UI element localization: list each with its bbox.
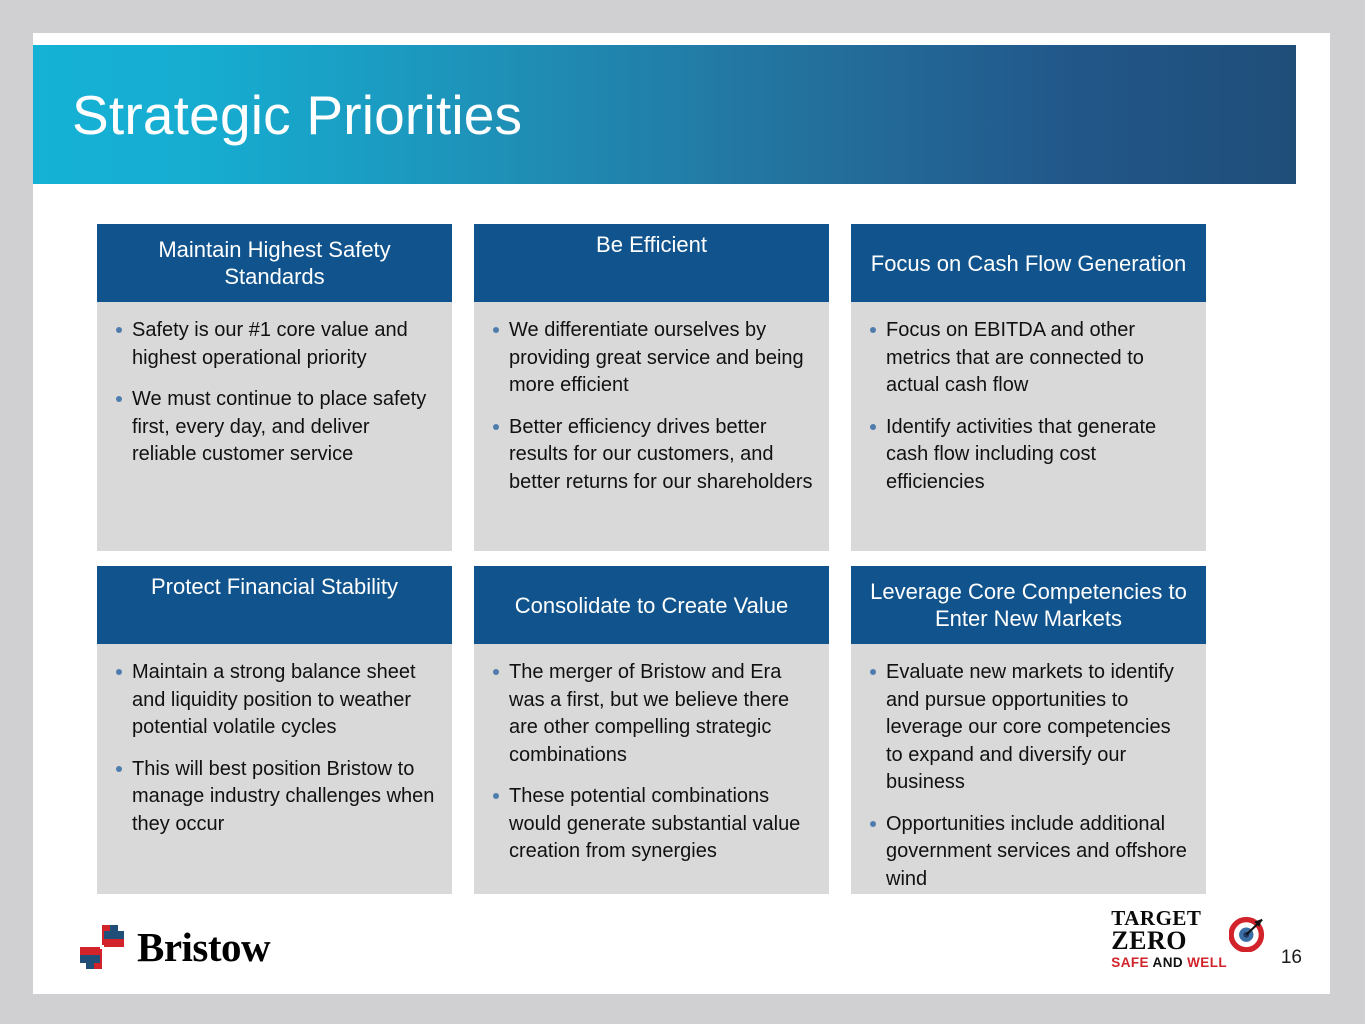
list-item: Safety is our #1 core value and highest … <box>107 317 438 372</box>
bullet-text: We differentiate ourselves by providing … <box>509 319 804 396</box>
page-title: Strategic Priorities <box>72 83 522 147</box>
bullet-dot-icon <box>493 793 499 799</box>
bullet-list: Safety is our #1 core value and highest … <box>107 317 438 469</box>
title-banner: Strategic Priorities <box>33 45 1296 184</box>
priority-card-consolidate-to-create-value[interactable]: Consolidate to Create Value The merger o… <box>474 566 829 894</box>
bullet-text: Focus on EBITDA and other metrics that a… <box>886 319 1144 396</box>
target-zero-wordmark: TARGET ZERO SAFE AND WELL <box>1111 908 1227 970</box>
priority-card-protect-financial-stability[interactable]: Protect Financial Stability Maintain a s… <box>97 566 452 894</box>
tagline-safe: SAFE <box>1111 955 1149 970</box>
bullet-text: The merger of Bristow and Era was a firs… <box>509 661 789 766</box>
card-body: Focus on EBITDA and other metrics that a… <box>851 302 1206 551</box>
card-body: Safety is our #1 core value and highest … <box>97 302 452 551</box>
bullet-dot-icon <box>116 669 122 675</box>
list-item: Focus on EBITDA and other metrics that a… <box>861 317 1192 400</box>
target-zero-logo: TARGET ZERO SAFE AND WELL <box>1111 908 1265 970</box>
bullet-dot-icon <box>493 669 499 675</box>
bullet-list: Focus on EBITDA and other metrics that a… <box>861 317 1192 496</box>
card-header: Be Efficient <box>474 224 829 302</box>
bullet-text: We must continue to place safety first, … <box>132 388 426 465</box>
bristow-pinwheel-icon <box>75 922 129 972</box>
bullet-text: Evaluate new markets to identify and pur… <box>886 661 1174 793</box>
target-zero-line2: ZERO <box>1111 928 1187 954</box>
bullet-text: Opportunities include additional governm… <box>886 813 1187 890</box>
tagline-and: AND <box>1149 955 1187 970</box>
bullet-dot-icon <box>116 766 122 772</box>
card-body: We differentiate ourselves by providing … <box>474 302 829 551</box>
card-body: The merger of Bristow and Era was a firs… <box>474 644 829 894</box>
bullet-list: The merger of Bristow and Era was a firs… <box>484 659 815 866</box>
card-row-bottom: Protect Financial Stability Maintain a s… <box>97 566 1267 894</box>
card-title: Protect Financial Stability <box>151 573 398 600</box>
list-item: These potential combinations would gener… <box>484 783 815 866</box>
card-body: Evaluate new markets to identify and pur… <box>851 644 1206 903</box>
priority-card-focus-on-cash-flow-generation[interactable]: Focus on Cash Flow Generation Focus on E… <box>851 224 1206 551</box>
list-item: Maintain a strong balance sheet and liqu… <box>107 659 438 742</box>
card-title: Maintain Highest Safety Standards <box>107 236 442 290</box>
card-row-top: Maintain Highest Safety Standards Safety… <box>97 224 1267 551</box>
bullet-list: Evaluate new markets to identify and pur… <box>861 659 1192 893</box>
slide-footer: Bristow TARGET ZERO SAFE AND WELL 16 <box>33 904 1330 994</box>
card-title: Be Efficient <box>596 231 707 258</box>
priority-card-leverage-core-competencies[interactable]: Leverage Core Competencies to Enter New … <box>851 566 1206 894</box>
card-header: Consolidate to Create Value <box>474 566 829 644</box>
bullet-text: This will best position Bristow to manag… <box>132 758 434 835</box>
bullet-dot-icon <box>870 424 876 430</box>
bullet-text: Maintain a strong balance sheet and liqu… <box>132 661 416 738</box>
bullet-text: Identify activities that generate cash f… <box>886 416 1156 493</box>
bullet-list: We differentiate ourselves by providing … <box>484 317 815 496</box>
bullet-dot-icon <box>870 669 876 675</box>
page-number: 16 <box>1281 947 1302 969</box>
list-item: We differentiate ourselves by providing … <box>484 317 815 400</box>
bullet-dot-icon <box>116 396 122 402</box>
list-item: The merger of Bristow and Era was a firs… <box>484 659 815 769</box>
bullet-text: These potential combinations would gener… <box>509 785 800 862</box>
list-item: We must continue to place safety first, … <box>107 386 438 469</box>
bristow-logo: Bristow <box>75 922 270 972</box>
bullet-list: Maintain a strong balance sheet and liqu… <box>107 659 438 838</box>
card-header: Maintain Highest Safety Standards <box>97 224 452 302</box>
card-header: Leverage Core Competencies to Enter New … <box>851 566 1206 644</box>
priority-card-grid: Maintain Highest Safety Standards Safety… <box>97 224 1267 894</box>
target-bullseye-icon <box>1229 916 1265 952</box>
list-item: This will best position Bristow to manag… <box>107 756 438 839</box>
card-body: Maintain a strong balance sheet and liqu… <box>97 644 452 894</box>
card-header: Focus on Cash Flow Generation <box>851 224 1206 302</box>
priority-card-be-efficient[interactable]: Be Efficient We differentiate ourselves … <box>474 224 829 551</box>
bristow-wordmark: Bristow <box>137 927 270 968</box>
tagline-well: WELL <box>1187 955 1227 970</box>
list-item: Better efficiency drives better results … <box>484 414 815 497</box>
bullet-dot-icon <box>493 327 499 333</box>
list-item: Opportunities include additional governm… <box>861 811 1192 894</box>
target-zero-tagline: SAFE AND WELL <box>1111 956 1227 970</box>
list-item: Identify activities that generate cash f… <box>861 414 1192 497</box>
slide: Strategic Priorities Maintain Highest Sa… <box>33 33 1330 994</box>
card-header: Protect Financial Stability <box>97 566 452 644</box>
card-title: Consolidate to Create Value <box>515 592 789 619</box>
list-item: Evaluate new markets to identify and pur… <box>861 659 1192 797</box>
bullet-dot-icon <box>870 327 876 333</box>
card-title: Leverage Core Competencies to Enter New … <box>861 578 1196 632</box>
bullet-dot-icon <box>116 327 122 333</box>
priority-card-maintain-highest-safety-standards[interactable]: Maintain Highest Safety Standards Safety… <box>97 224 452 551</box>
bullet-text: Safety is our #1 core value and highest … <box>132 319 408 369</box>
bullet-dot-icon <box>493 424 499 430</box>
bullet-dot-icon <box>870 821 876 827</box>
card-title: Focus on Cash Flow Generation <box>871 250 1187 277</box>
bullet-text: Better efficiency drives better results … <box>509 416 813 493</box>
